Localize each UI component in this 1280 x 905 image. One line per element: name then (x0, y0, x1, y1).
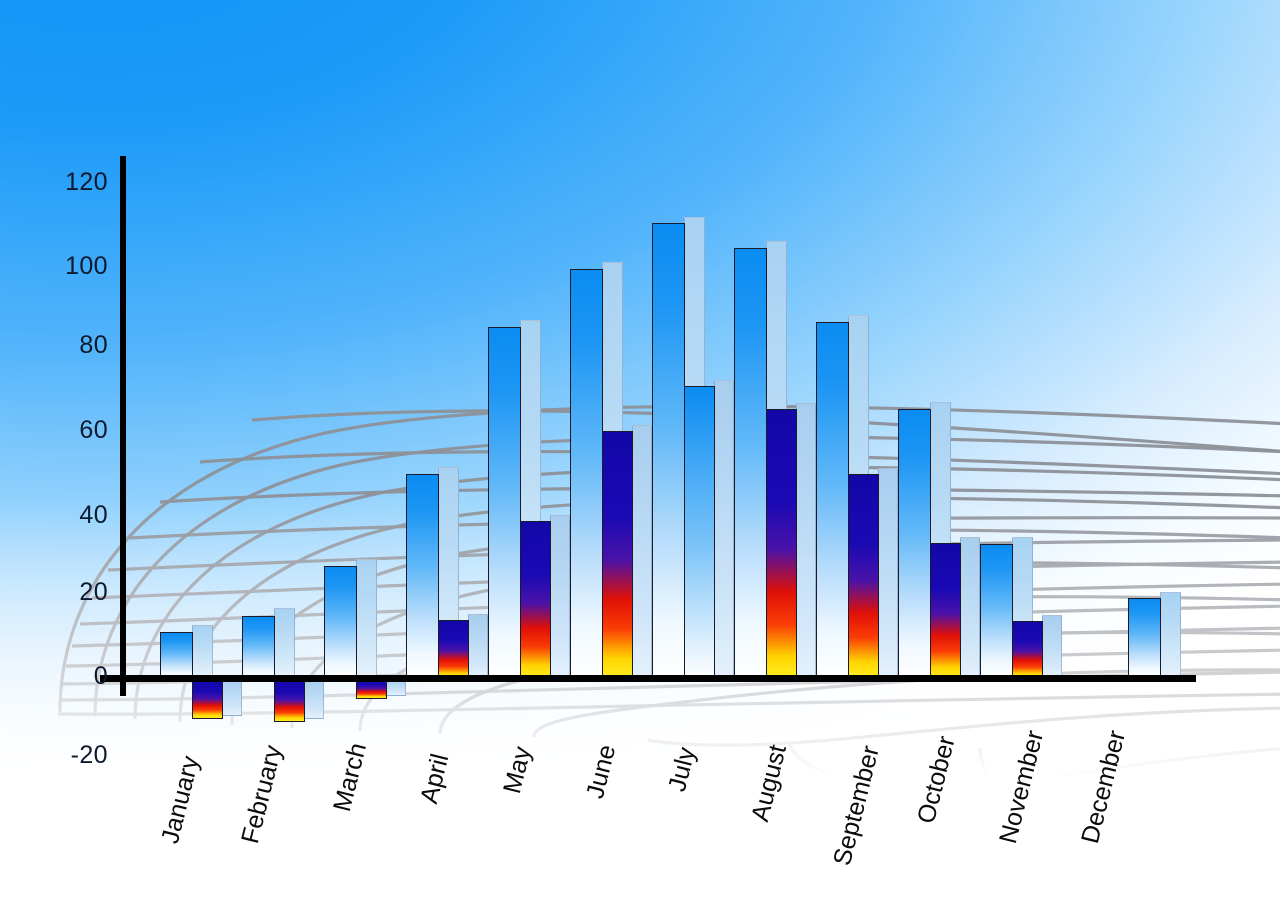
bar-shadow-may-series2 (550, 515, 570, 678)
bar-may-series2[interactable] (520, 521, 551, 678)
chart-canvas: 120 100 80 60 40 20 0 -20 January Februa… (0, 0, 1280, 905)
y-tick-0: 0 (40, 664, 108, 689)
bar-shadow-august-series2 (796, 403, 816, 678)
y-tick-100: 100 (40, 254, 108, 279)
bar-shadow-february-series2 (304, 678, 324, 719)
bar-november-series2[interactable] (1012, 621, 1043, 678)
bar-shadow-june-series2 (632, 425, 652, 678)
bar-september-series1[interactable] (816, 322, 849, 678)
y-tick-neg20: -20 (32, 743, 108, 768)
bar-shadow-october-series2 (960, 537, 980, 678)
x-axis-line (100, 675, 1196, 682)
bar-shadow-september-series2 (878, 468, 898, 678)
bar-february-series1[interactable] (242, 616, 275, 678)
bar-january-series1[interactable] (160, 632, 193, 678)
bar-shadow-february-series1 (274, 608, 295, 678)
bar-august-series1[interactable] (734, 248, 767, 678)
bar-shadow-march-series1 (356, 559, 377, 678)
bar-july-series1[interactable] (652, 223, 685, 678)
bar-shadow-december-series1 (1160, 592, 1181, 678)
bar-february-series2[interactable] (274, 678, 305, 722)
bar-shadow-november-series2 (1042, 615, 1062, 678)
bar-shadow-january-series1 (192, 625, 213, 678)
y-tick-40: 40 (40, 503, 108, 528)
bar-december-series1[interactable] (1128, 598, 1161, 678)
bar-april-series1[interactable] (406, 474, 439, 678)
bar-april-series2[interactable] (438, 620, 469, 678)
bar-shadow-july-series2 (714, 380, 734, 678)
bar-shadow-january-series2 (222, 678, 242, 716)
bar-june-series2[interactable] (602, 431, 633, 678)
bar-may-series1[interactable] (488, 327, 521, 678)
bar-september-series2[interactable] (848, 474, 879, 678)
bar-january-series2[interactable] (192, 678, 223, 719)
bar-june-series1[interactable] (570, 269, 603, 678)
bar-march-series1[interactable] (324, 566, 357, 678)
bar-november-series1[interactable] (980, 544, 1013, 678)
y-tick-120: 120 (40, 170, 108, 195)
y-tick-20: 20 (40, 580, 108, 605)
bar-august-series2[interactable] (766, 409, 797, 678)
bar-shadow-april-series2 (468, 614, 488, 678)
y-axis-line (120, 156, 126, 696)
y-tick-60: 60 (40, 418, 108, 443)
bar-october-series1[interactable] (898, 409, 931, 678)
bar-july-series2[interactable] (684, 386, 715, 678)
bar-october-series2[interactable] (930, 543, 961, 678)
y-tick-80: 80 (40, 333, 108, 358)
